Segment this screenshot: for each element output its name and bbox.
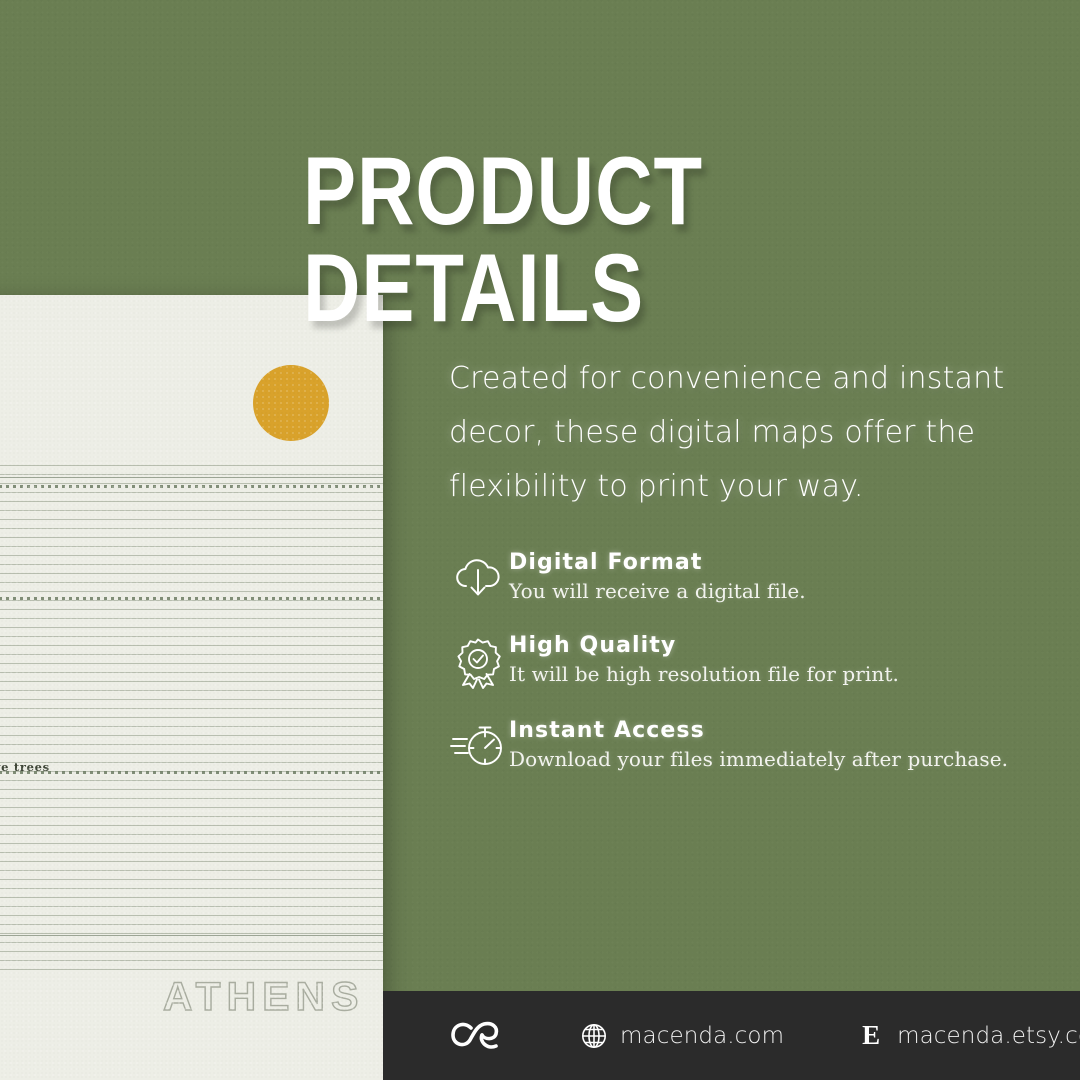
feature-description: Download your files immediately after pu… xyxy=(509,747,1047,771)
feature-text-block: Instant Access Download your files immed… xyxy=(509,716,1047,771)
footer-bar: macenda.com E macenda.etsy.com xyxy=(383,991,1080,1080)
poster-rule-line xyxy=(0,935,383,936)
feature-list: Digital Format You will receive a digita… xyxy=(447,548,1047,799)
olive-tree-illustration xyxy=(0,773,24,863)
poster-caption: ntly over the olive trees xyxy=(0,760,50,774)
poster-dotted-line xyxy=(0,597,383,600)
poster-dotted-line xyxy=(0,771,383,774)
footer-link-label: macenda.etsy.com xyxy=(897,1023,1080,1049)
feature-item-digital-format: Digital Format You will receive a digita… xyxy=(447,548,1047,604)
footer-link-etsy[interactable]: E macenda.etsy.com xyxy=(856,1021,1080,1051)
stopwatch-icon xyxy=(447,716,509,772)
poster-rule-line xyxy=(0,477,383,478)
footer-link-website[interactable]: macenda.com xyxy=(579,1021,784,1051)
poster-map-lines xyxy=(0,465,383,970)
etsy-icon: E xyxy=(856,1021,886,1051)
sun-circle-graphic xyxy=(253,365,329,441)
intro-paragraph: Created for convenience and instant deco… xyxy=(449,352,1014,514)
feature-description: It will be high resolution file for prin… xyxy=(509,662,1047,686)
feature-text-block: Digital Format You will receive a digita… xyxy=(509,548,1047,603)
poster-city-name: ATHENS xyxy=(163,975,364,1020)
feature-text-block: High Quality It will be high resolution … xyxy=(509,631,1047,686)
cloud-download-icon xyxy=(447,548,509,604)
footer-link-label: macenda.com xyxy=(620,1023,784,1049)
feature-item-instant-access: Instant Access Download your files immed… xyxy=(447,716,1047,772)
macenda-monogram-logo-icon[interactable] xyxy=(449,1016,505,1056)
etsy-e-glyph: E xyxy=(862,1022,880,1049)
feature-item-high-quality: High Quality It will be high resolution … xyxy=(447,631,1047,689)
page-title: PRODUCT DETAILS xyxy=(303,144,1021,338)
poster-preview-panel: ntly over the olive trees xyxy=(0,295,383,1080)
feature-title: High Quality xyxy=(509,633,1047,658)
feature-title: Instant Access xyxy=(509,718,1047,743)
poster-dotted-line xyxy=(0,485,383,488)
quality-badge-icon xyxy=(447,631,509,689)
globe-icon xyxy=(579,1021,609,1051)
feature-description: You will receive a digital file. xyxy=(509,579,1047,603)
feature-title: Digital Format xyxy=(509,550,1047,575)
